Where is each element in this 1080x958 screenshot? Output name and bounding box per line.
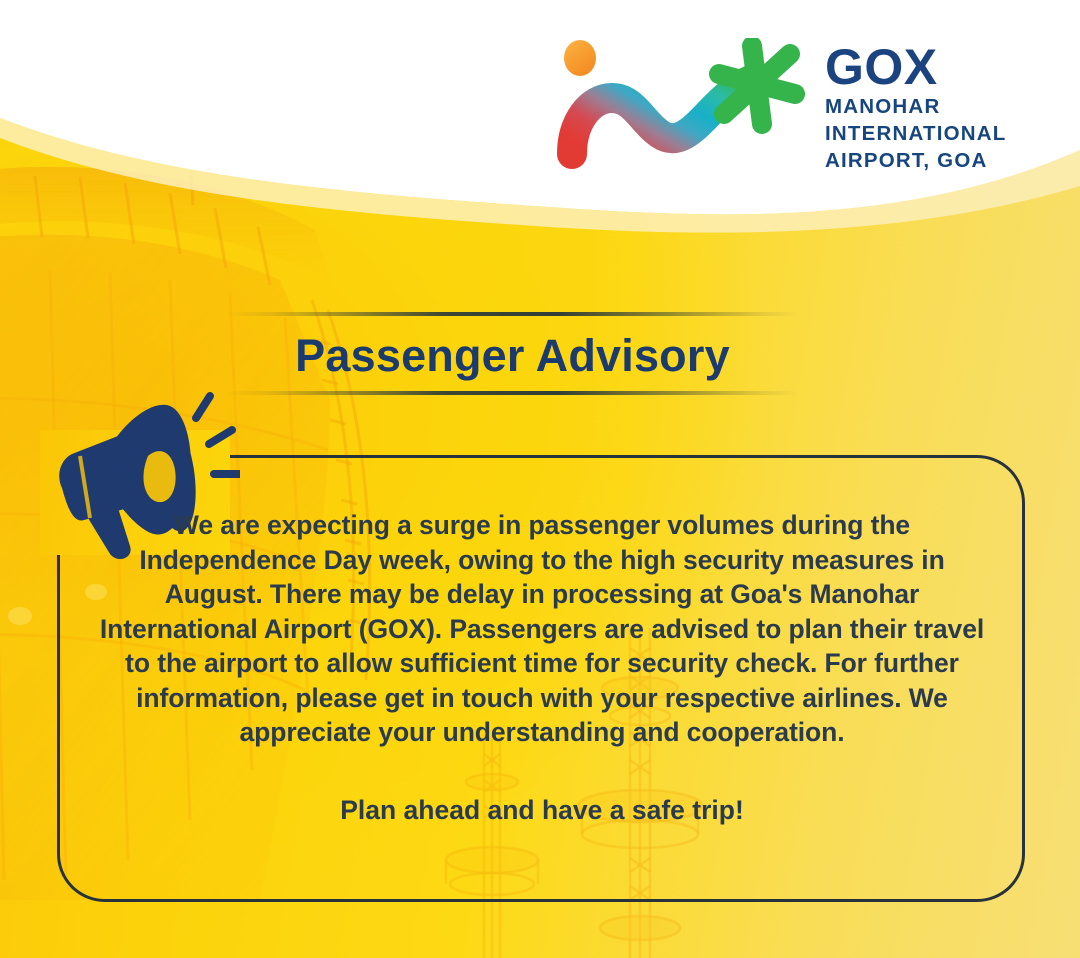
gox-logo: GOX MANOHAR INTERNATIONAL AIRPORT, GOA	[556, 33, 1026, 183]
title-block: Passenger Advisory	[225, 312, 800, 395]
brand-wordmark: GOX MANOHAR INTERNATIONAL AIRPORT, GOA	[825, 43, 1006, 174]
brand-name: GOX	[825, 43, 1006, 92]
page-title: Passenger Advisory	[225, 332, 800, 379]
advisory-body-text: We are expecting a surge in passenger vo…	[92, 508, 992, 750]
brand-subtitle-line3: AIRPORT, GOA	[825, 149, 1006, 173]
brand-subtitle-line2: INTERNATIONAL	[825, 122, 1006, 146]
title-rule-bottom	[225, 391, 800, 395]
brand-subtitle-line1: MANOHAR	[825, 95, 1006, 119]
gox-wave-asterisk-logo-icon	[556, 38, 811, 178]
title-rule-top	[225, 312, 800, 316]
advisory-closing-text: Plan ahead and have a safe trip!	[92, 793, 992, 827]
passenger-advisory-poster: GOX MANOHAR INTERNATIONAL AIRPORT, GOA P…	[0, 0, 1080, 958]
